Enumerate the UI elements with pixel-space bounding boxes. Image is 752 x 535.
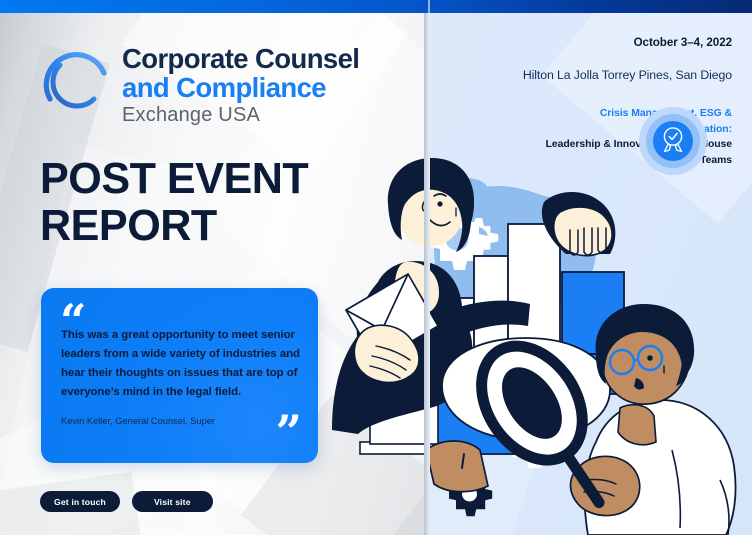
- testimonial-card: “ This was a great opportunity to meet s…: [41, 288, 318, 463]
- broken-circle-logo-icon: [38, 47, 114, 123]
- logo-line-2: and Compliance: [122, 73, 359, 102]
- visit-site-button[interactable]: Visit site: [132, 491, 213, 512]
- top-banner: [0, 0, 752, 13]
- testimonial-text: This was a great opportunity to meet sen…: [61, 326, 304, 402]
- quote-close-icon: ”: [276, 409, 302, 455]
- logo-line-1: Corporate Counsel: [122, 44, 359, 73]
- cta-row: Get in touch Visit site: [40, 491, 213, 512]
- brand-logo[interactable]: Corporate Counsel and Compliance Exchang…: [38, 44, 398, 129]
- panel-divider: [424, 13, 430, 535]
- logo-wordmark: Corporate Counsel and Compliance Exchang…: [122, 44, 359, 127]
- event-date: October 3–4, 2022: [634, 36, 732, 49]
- event-venue: Hilton La Jolla Torrey Pines, San Diego: [523, 68, 732, 82]
- logo-line-3: Exchange USA: [122, 103, 359, 127]
- two-people-analysing-chart-illustration: [330, 150, 752, 535]
- banner-seam: [428, 0, 430, 13]
- poster-canvas: Corporate Counsel and Compliance Exchang…: [0, 0, 752, 535]
- testimonial-attribution: Kevin Keller, General Counsel, Super: [61, 415, 286, 428]
- get-in-touch-button[interactable]: Get in touch: [40, 491, 120, 512]
